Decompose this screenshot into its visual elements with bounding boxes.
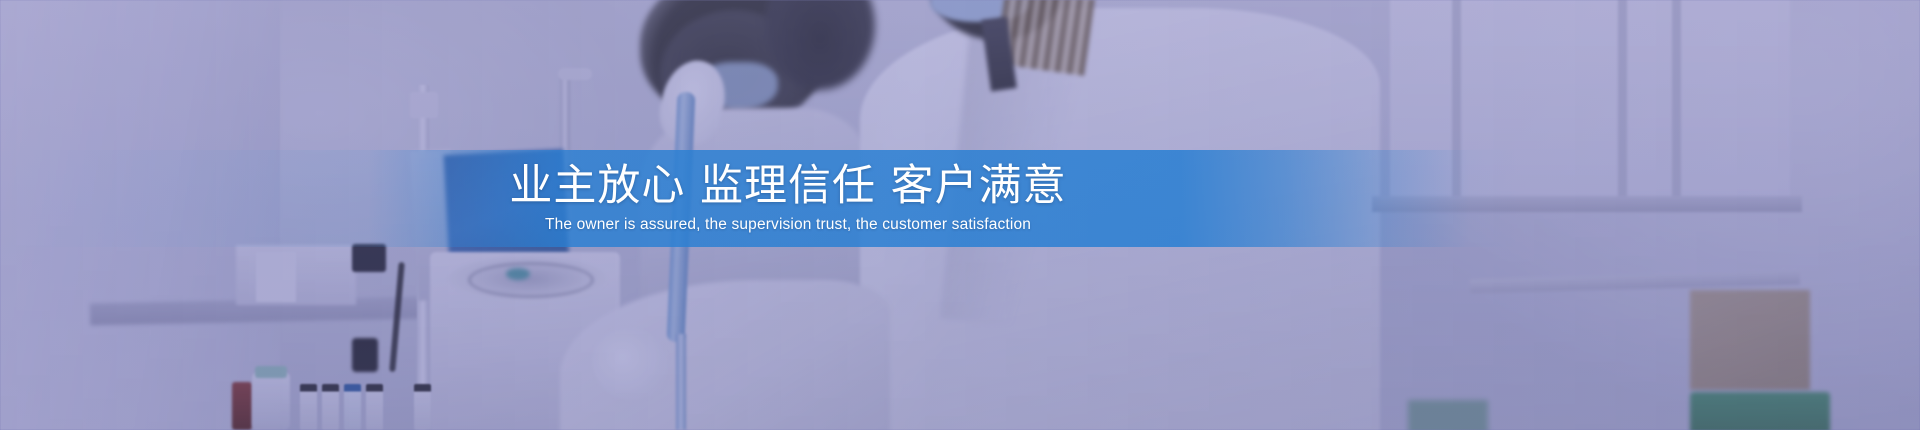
hero-banner: 业主放心 监理信任 客户满意 The owner is assured, the… xyxy=(0,0,1920,430)
slogan-band-glow xyxy=(0,150,1920,247)
